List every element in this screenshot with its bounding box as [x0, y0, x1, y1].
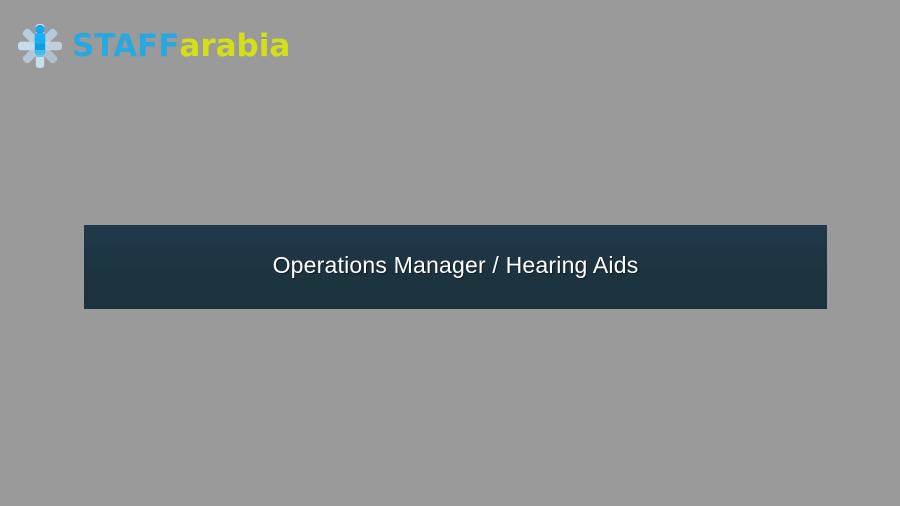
page-root: staffarabia Operations Manager / Hearing… [0, 0, 900, 506]
job-title-banner: Operations Manager / Hearing Aids [84, 225, 827, 309]
brand-wordmark-staff: staff [72, 31, 179, 62]
brand-wordmark: staffarabia [72, 31, 290, 62]
snowflake-person-logo-icon [16, 20, 64, 70]
job-title-text: Operations Manager / Hearing Aids [273, 225, 639, 277]
brand-logo[interactable]: staffarabia [16, 16, 316, 74]
brand-wordmark-arabia: arabia [179, 31, 290, 62]
